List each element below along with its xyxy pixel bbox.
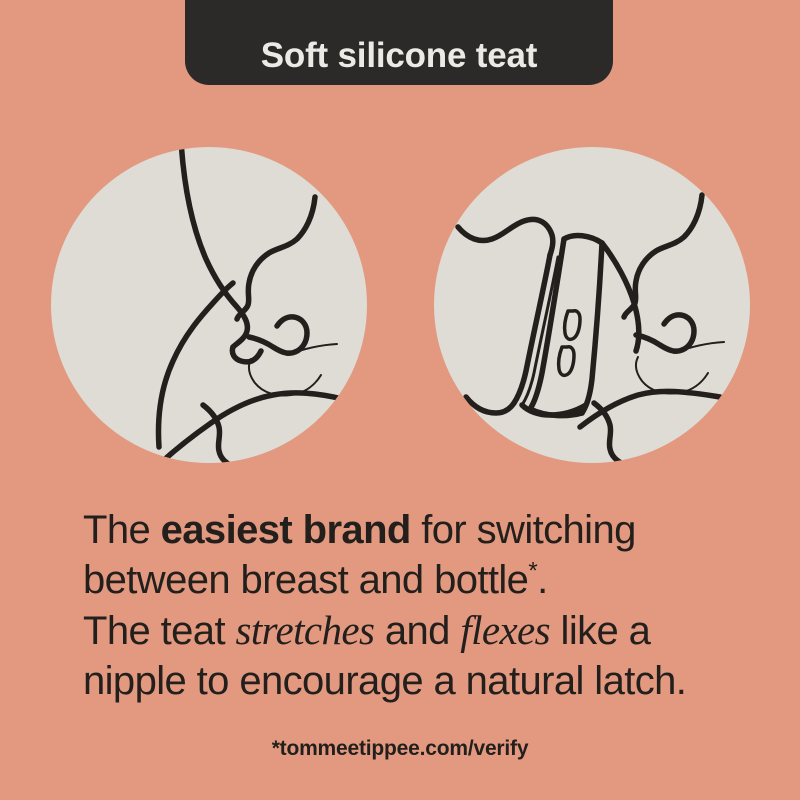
copy-line-4: nipple to encourage a natural latch.	[83, 656, 743, 706]
header-banner: Soft silicone teat	[185, 0, 613, 85]
copy-line-3-pre: The teat	[83, 609, 235, 653]
copy-line-3-italic-flexes: flexes	[460, 607, 550, 653]
copy-line-3-mid: and	[374, 609, 460, 653]
illustration-row	[0, 147, 800, 463]
copy-line-3-italic-stretches: stretches	[235, 607, 374, 653]
copy-line-1-post: for switching	[411, 508, 636, 552]
footnote-url[interactable]: *tommeetippee.com/verify	[272, 737, 529, 760]
bottle-teat-latch-illustration	[434, 147, 750, 463]
page-title: Soft silicone teat	[261, 38, 537, 73]
copy-line-2-post: .	[537, 558, 548, 602]
copy-line-1: The easiest brand for switching	[83, 505, 743, 555]
copy-line-2: between breast and bottle*.	[83, 555, 743, 605]
product-feature-poster: Soft silicone teat	[0, 0, 800, 800]
copy-line-3: The teat stretches and flexes like a	[83, 605, 743, 656]
footnote-asterisk: *	[528, 558, 537, 585]
footer: *tommeetippee.com/verify	[0, 737, 800, 761]
copy-line-2-pre: between breast and bottle	[83, 558, 528, 602]
copy-line-3-post: like a	[550, 609, 650, 653]
copy-line-1-pre: The	[83, 508, 161, 552]
breastfeeding-latch-illustration	[51, 147, 367, 463]
body-copy: The easiest brand for switching between …	[83, 505, 743, 706]
copy-line-1-bold: easiest brand	[161, 508, 411, 552]
